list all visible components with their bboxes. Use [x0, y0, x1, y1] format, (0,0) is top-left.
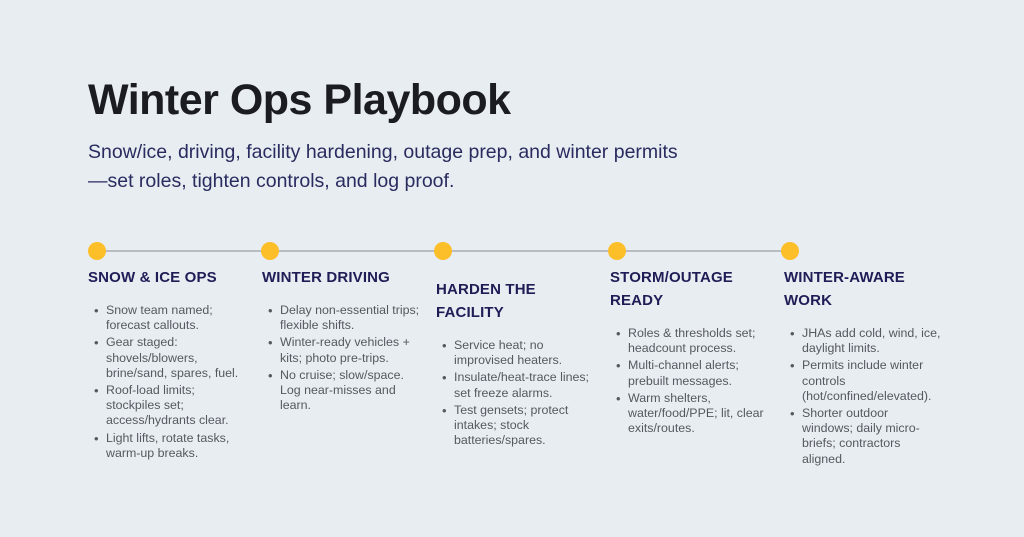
- timeline-dot-4: [608, 242, 626, 260]
- column-title-winter-driving: WINTER DRIVING: [262, 266, 420, 289]
- list-item: Insulate/heat-trace lines; set freeze al…: [454, 370, 594, 400]
- timeline-dot-2: [261, 242, 279, 260]
- page-title: Winter Ops Playbook: [88, 74, 788, 126]
- column-storm-outage-ready: STORM/OUTAGE READYRoles & thresholds set…: [610, 266, 784, 438]
- list-item: Gear staged: shovels/blowers, brine/sand…: [106, 335, 246, 381]
- list-item: Shorter outdoor windows; daily micro-bri…: [802, 406, 942, 467]
- column-title-storm-outage-ready: STORM/OUTAGE READY: [610, 266, 768, 312]
- list-item: Service heat; no improvised heaters.: [454, 338, 594, 368]
- column-list-winter-driving: Delay non-essential trips; flexible shif…: [262, 303, 420, 413]
- list-item: Winter-ready vehicles + kits; photo pre-…: [280, 335, 420, 365]
- column-title-harden-the-facility: HARDEN THE FACILITY: [436, 278, 594, 324]
- timeline-dot-5: [781, 242, 799, 260]
- list-item: Roof-load limits; stockpiles set; access…: [106, 383, 246, 429]
- timeline-dot-1: [88, 242, 106, 260]
- column-harden-the-facility: HARDEN THE FACILITYService heat; no impr…: [436, 266, 610, 450]
- column-title-snow-ice-ops: SNOW & ICE OPS: [88, 266, 246, 289]
- list-item: Light lifts, rotate tasks, warm-up break…: [106, 431, 246, 461]
- list-item: Warm shelters, water/food/PPE; lit, clea…: [628, 391, 768, 437]
- column-list-winter-aware-work: JHAs add cold, wind, ice, daylight limit…: [784, 326, 942, 467]
- column-list-harden-the-facility: Service heat; no improvised heaters.Insu…: [436, 338, 594, 448]
- column-snow-ice-ops: SNOW & ICE OPSSnow team named; forecast …: [88, 266, 262, 463]
- list-item: Roles & thresholds set; headcount proces…: [628, 326, 768, 356]
- header-block: Winter Ops Playbook Snow/ice, driving, f…: [88, 74, 788, 196]
- infographic-root: Winter Ops Playbook Snow/ice, driving, f…: [0, 0, 1024, 537]
- list-item: JHAs add cold, wind, ice, daylight limit…: [802, 326, 942, 356]
- timeline-columns: SNOW & ICE OPSSnow team named; forecast …: [88, 266, 988, 469]
- list-item: Multi-channel alerts; prebuilt messages.: [628, 358, 768, 388]
- list-item: Permits include winter controls (hot/con…: [802, 358, 942, 404]
- list-item: Delay non-essential trips; flexible shif…: [280, 303, 420, 333]
- column-winter-driving: WINTER DRIVINGDelay non-essential trips;…: [262, 266, 436, 415]
- list-item: Test gensets; protect intakes; stock bat…: [454, 403, 594, 449]
- timeline: [88, 242, 799, 260]
- column-title-winter-aware-work: WINTER-AWARE WORK: [784, 266, 942, 312]
- page-subtitle: Snow/ice, driving, facility hardening, o…: [88, 138, 688, 196]
- list-item: Snow team named; forecast callouts.: [106, 303, 246, 333]
- column-winter-aware-work: WINTER-AWARE WORKJHAs add cold, wind, ic…: [784, 266, 958, 469]
- timeline-dot-3: [434, 242, 452, 260]
- column-list-storm-outage-ready: Roles & thresholds set; headcount proces…: [610, 326, 768, 436]
- list-item: No cruise; slow/space. Log near-misses a…: [280, 368, 420, 414]
- column-list-snow-ice-ops: Snow team named; forecast callouts.Gear …: [88, 303, 246, 461]
